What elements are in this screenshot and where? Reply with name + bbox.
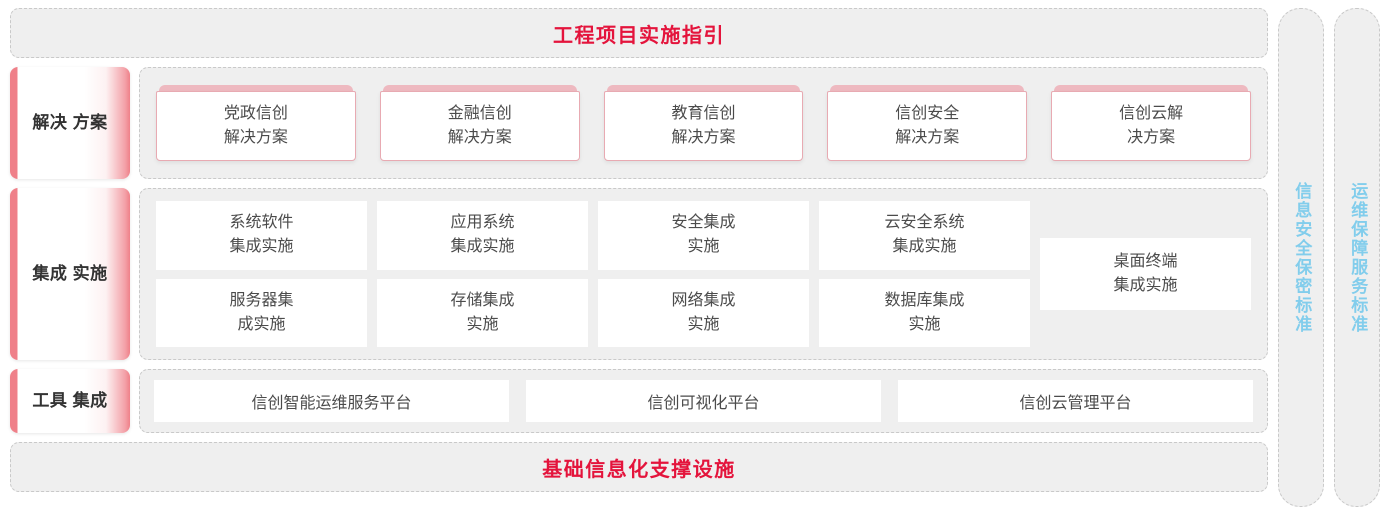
row-body-integration: 系统软件 集成实施 服务器集 成实施 应用系统 集成实施 存储集成 实施	[139, 188, 1268, 360]
tool-cell[interactable]: 信创智能运维服务平台	[154, 380, 509, 422]
footer-banner: 基础信息化支撑设施	[10, 442, 1268, 492]
integration-cell[interactable]: 存储集成 实施	[377, 279, 588, 348]
integration-column: 云安全系统 集成实施 数据库集成 实施	[819, 201, 1030, 347]
integration-cell-desktop[interactable]: 桌面终端 集成实施	[1040, 238, 1251, 310]
solution-card[interactable]: 金融信创 解决方案	[380, 85, 580, 161]
tool-cell[interactable]: 信创云管理平台	[898, 380, 1253, 422]
tool-cell-label: 信创云管理平台	[1019, 389, 1131, 413]
solution-card-label: 教育信创 解决方案	[671, 102, 735, 150]
solution-card[interactable]: 教育信创 解决方案	[604, 85, 804, 161]
integration-cell-label: 云安全系统 集成实施	[884, 211, 964, 259]
side-panel-ops-standard-label: 运维保障服务标准	[1346, 182, 1369, 334]
row-solutions: 解决 方案 党政信创 解决方案 金融信创 解决方案	[10, 67, 1268, 179]
integration-cell[interactable]: 云安全系统 集成实施	[819, 201, 1030, 270]
row-label-solutions: 解决 方案	[10, 67, 130, 179]
integration-cell-label: 安全集成 实施	[671, 211, 735, 259]
integration-column: 系统软件 集成实施 服务器集 成实施	[156, 201, 367, 347]
integration-column: 安全集成 实施 网络集成 实施	[598, 201, 809, 347]
row-label-integration: 集成 实施	[10, 188, 130, 360]
page-title: 工程项目实施指引	[553, 19, 725, 48]
row-body-tools: 信创智能运维服务平台 信创可视化平台 信创云管理平台	[139, 369, 1268, 433]
integration-cell[interactable]: 安全集成 实施	[598, 201, 809, 270]
tool-cell-label: 信创可视化平台	[647, 389, 759, 413]
solution-card-label: 党政信创 解决方案	[224, 102, 288, 150]
integration-cell[interactable]: 服务器集 成实施	[156, 279, 367, 348]
tool-cell[interactable]: 信创可视化平台	[526, 380, 881, 422]
row-label-tools: 工具 集成	[10, 369, 130, 433]
integration-cell[interactable]: 系统软件 集成实施	[156, 201, 367, 270]
side-panel-security-standard[interactable]: 信息安全保密标准	[1278, 8, 1324, 507]
footer-title: 基础信息化支撑设施	[542, 453, 736, 482]
row-label-solutions-text: 解决 方案	[32, 111, 107, 135]
integration-cell[interactable]: 应用系统 集成实施	[377, 201, 588, 270]
integration-column: 应用系统 集成实施 存储集成 实施	[377, 201, 588, 347]
integration-cell-label: 应用系统 集成实施	[450, 211, 514, 259]
side-panel-ops-standard[interactable]: 运维保障服务标准	[1334, 8, 1380, 507]
integration-cell-label: 数据库集成 实施	[884, 289, 964, 337]
solution-card[interactable]: 信创云解 决方案	[1051, 85, 1251, 161]
integration-cell-label: 服务器集 成实施	[229, 289, 293, 337]
integration-cell-label: 存储集成 实施	[450, 289, 514, 337]
side-standards-column: 信息安全保密标准 运维保障服务标准	[1278, 8, 1380, 507]
main-column: 工程项目实施指引 解决 方案 党政信创 解决方案	[10, 8, 1268, 507]
integration-cell-label: 网络集成 实施	[671, 289, 735, 337]
row-label-integration-text: 集成 实施	[32, 262, 107, 286]
side-panel-security-standard-label: 信息安全保密标准	[1290, 182, 1313, 334]
solution-card[interactable]: 党政信创 解决方案	[156, 85, 356, 161]
header-banner: 工程项目实施指引	[10, 8, 1268, 58]
row-integration: 集成 实施 系统软件 集成实施 服务器集 成实施 应用系统 集成实施	[10, 188, 1268, 360]
integration-cell[interactable]: 数据库集成 实施	[819, 279, 1030, 348]
solution-card-label: 信创云解 决方案	[1119, 102, 1183, 150]
tool-cell-label: 信创智能运维服务平台	[251, 389, 411, 413]
solution-card-label: 金融信创 解决方案	[448, 102, 512, 150]
row-body-solutions: 党政信创 解决方案 金融信创 解决方案 教育信创 解决方案	[139, 67, 1268, 179]
solution-card-label: 信创安全 解决方案	[895, 102, 959, 150]
solution-card[interactable]: 信创安全 解决方案	[827, 85, 1027, 161]
row-label-tools-text: 工具 集成	[32, 389, 107, 413]
integration-column-desktop: 桌面终端 集成实施	[1040, 201, 1251, 347]
integration-cell[interactable]: 网络集成 实施	[598, 279, 809, 348]
integration-cell-label: 桌面终端 集成实施	[1113, 250, 1177, 298]
diagram-root: 工程项目实施指引 解决 方案 党政信创 解决方案	[0, 0, 1390, 515]
integration-cell-label: 系统软件 集成实施	[229, 211, 293, 259]
row-tools: 工具 集成 信创智能运维服务平台 信创可视化平台 信创云管理平台	[10, 369, 1268, 433]
